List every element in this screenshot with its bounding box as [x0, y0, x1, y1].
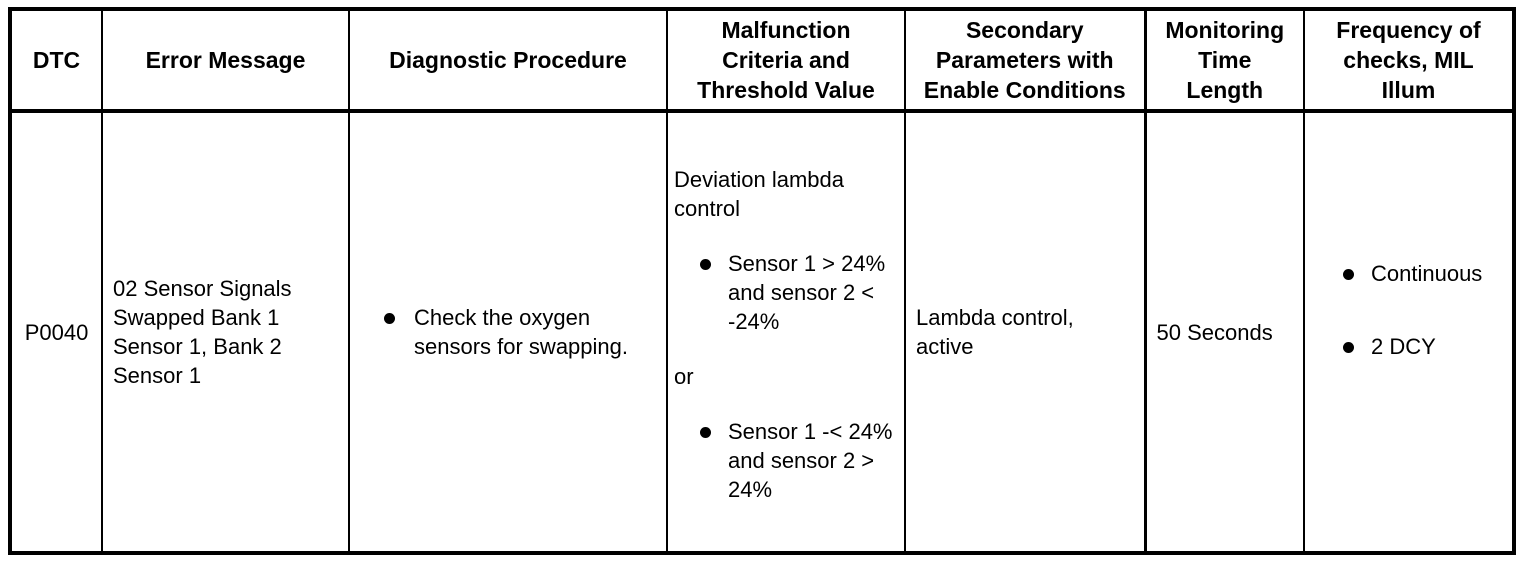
- cell-frequency-checks: Continuous 2 DCY: [1304, 111, 1514, 553]
- table-row: P0040 02 Sensor Signals Swapped Bank 1 S…: [10, 111, 1514, 553]
- malfunction-criteria-bullet-2: Sensor 1 -< 24% and sensor 2 > 24%: [728, 419, 892, 502]
- column-header-secondary-line-3: Enable Conditions: [912, 75, 1138, 105]
- list-item: Sensor 1 > 24% and sensor 2 < -24%: [674, 249, 900, 336]
- frequency-checks-bullet-list: Continuous 2 DCY: [1315, 259, 1502, 361]
- frequency-checks-content: Continuous 2 DCY: [1305, 253, 1512, 411]
- column-header-secondary-line-2: Parameters with: [912, 45, 1138, 75]
- cell-malfunction-criteria: Deviation lambda control Sensor 1 > 24% …: [667, 111, 905, 553]
- column-header-frequency-line-2: checks, MIL: [1311, 45, 1506, 75]
- column-header-frequency-line-3: Illum: [1311, 75, 1506, 105]
- malfunction-criteria-content: Deviation lambda control Sensor 1 > 24% …: [668, 155, 904, 510]
- secondary-parameters-text: Lambda control, active: [906, 297, 1144, 367]
- malfunction-criteria-bullet-list-2: Sensor 1 -< 24% and sensor 2 > 24%: [674, 417, 900, 504]
- monitoring-time-length-text: 50 Seconds: [1147, 312, 1304, 353]
- list-item: Sensor 1 -< 24% and sensor 2 > 24%: [674, 417, 900, 504]
- page-canvas: DTC Error Message Diagnostic Procedure M…: [0, 0, 1520, 562]
- column-header-secondary-line-1: Secondary: [912, 15, 1138, 45]
- column-header-frequency-line-1: Frequency of: [1311, 15, 1506, 45]
- column-header-secondary-parameters: Secondary Parameters with Enable Conditi…: [905, 9, 1145, 111]
- bullet-dot-icon: [1343, 342, 1354, 353]
- cell-dtc: P0040: [10, 111, 102, 553]
- table-header-row: DTC Error Message Diagnostic Procedure M…: [10, 9, 1514, 111]
- error-message-text: 02 Sensor Signals Swapped Bank 1 Sensor …: [103, 268, 348, 396]
- bullet-dot-icon: [700, 259, 711, 270]
- diagnostic-procedure-content: Check the oxygen sensors for swapping.: [350, 297, 666, 367]
- column-header-malfunction-criteria: Malfunction Criteria and Threshold Value: [667, 9, 905, 111]
- column-header-monitoring-line-3: Length: [1153, 75, 1298, 105]
- malfunction-criteria-lead: Deviation lambda control: [674, 165, 900, 223]
- bullet-dot-icon: [700, 427, 711, 438]
- bullet-dot-icon: [1343, 269, 1354, 280]
- list-item: 2 DCY: [1315, 332, 1502, 361]
- cell-diagnostic-procedure: Check the oxygen sensors for swapping.: [349, 111, 667, 553]
- column-header-diagnostic-procedure-line-1: Diagnostic Procedure: [389, 47, 627, 73]
- dtc-code: P0040: [12, 312, 101, 353]
- cell-error-message: 02 Sensor Signals Swapped Bank 1 Sensor …: [102, 111, 349, 553]
- diagnostic-procedure-bullet-list: Check the oxygen sensors for swapping.: [360, 303, 656, 361]
- bullet-dot-icon: [384, 313, 395, 324]
- column-header-monitoring-line-2: Time: [1153, 45, 1298, 75]
- dtc-diagnostic-table: DTC Error Message Diagnostic Procedure M…: [8, 7, 1516, 555]
- column-header-dtc-line-1: DTC: [33, 47, 80, 73]
- frequency-checks-bullet-2: 2 DCY: [1371, 334, 1436, 359]
- column-header-frequency-checks: Frequency of checks, MIL Illum: [1304, 9, 1514, 111]
- list-item: Continuous: [1315, 259, 1502, 288]
- malfunction-criteria-bullet-list-1: Sensor 1 > 24% and sensor 2 < -24%: [674, 249, 900, 336]
- column-header-malfunction-line-3: Threshold Value: [674, 75, 898, 105]
- cell-monitoring-time-length: 50 Seconds: [1145, 111, 1304, 553]
- list-item: Check the oxygen sensors for swapping.: [360, 303, 656, 361]
- column-header-malfunction-line-2: Criteria and: [674, 45, 898, 75]
- frequency-checks-bullet-1: Continuous: [1371, 261, 1482, 286]
- diagnostic-procedure-bullet-1: Check the oxygen sensors for swapping.: [414, 305, 628, 359]
- column-header-monitoring-time-length: Monitoring Time Length: [1145, 9, 1304, 111]
- column-header-error-message: Error Message: [102, 9, 349, 111]
- malfunction-criteria-bullet-1: Sensor 1 > 24% and sensor 2 < -24%: [728, 251, 885, 334]
- cell-secondary-parameters: Lambda control, active: [905, 111, 1145, 553]
- column-header-monitoring-line-1: Monitoring: [1153, 15, 1298, 45]
- column-header-dtc: DTC: [10, 9, 102, 111]
- column-header-diagnostic-procedure: Diagnostic Procedure: [349, 9, 667, 111]
- malfunction-criteria-connector: or: [674, 362, 900, 391]
- column-header-error-message-line-1: Error Message: [146, 47, 306, 73]
- column-header-malfunction-line-1: Malfunction: [674, 15, 898, 45]
